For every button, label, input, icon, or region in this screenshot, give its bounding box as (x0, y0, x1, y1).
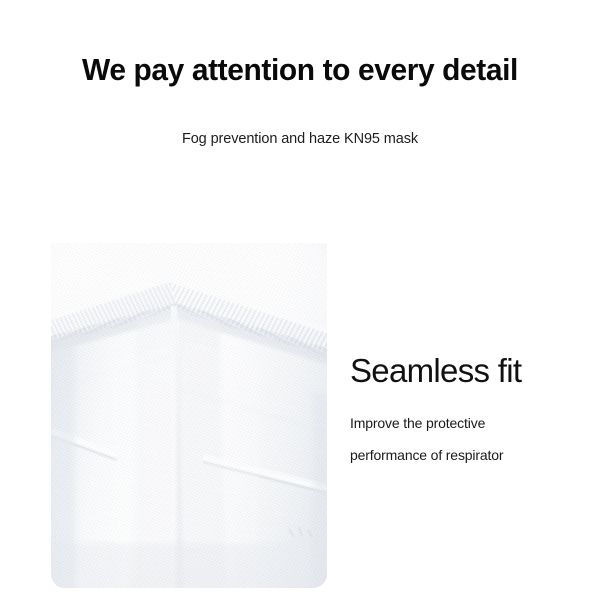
product-image (51, 243, 327, 588)
feature-section: Seamless fit Improve the protective perf… (350, 352, 580, 471)
feature-description: Improve the protective performance of re… (350, 407, 580, 471)
page-subtitle: Fog prevention and haze KN95 mask (0, 129, 600, 149)
product-detail-page: We pay attention to every detail Fog pre… (0, 0, 600, 600)
page-title: We pay attention to every detail (11, 52, 590, 88)
kn95-mask-illustration (51, 243, 327, 588)
feature-title: Seamless fit (350, 352, 580, 390)
feature-description-line: performance of respirator (350, 439, 580, 471)
feature-description-line: Improve the protective (350, 407, 580, 439)
